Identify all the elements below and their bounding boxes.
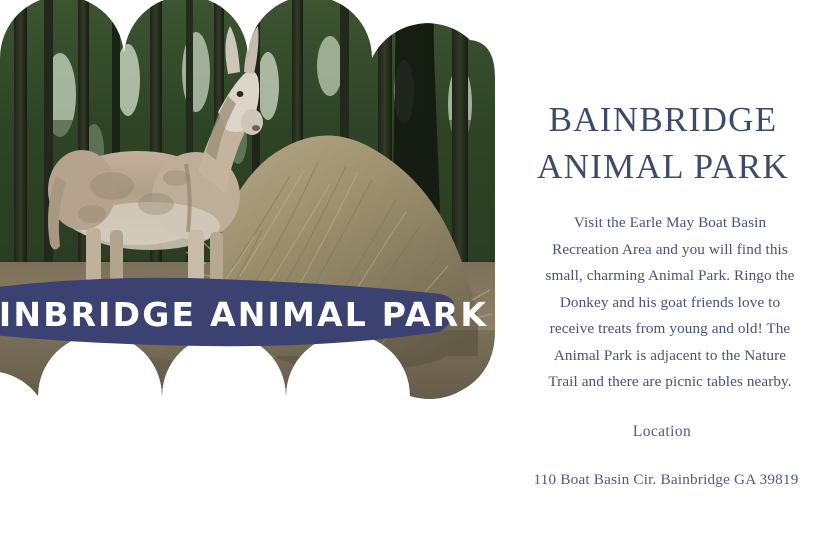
paragraph-line: Recreation Area and you will find this (520, 237, 818, 264)
description-paragraph: Visit the Earle May Boat Basin Recreatio… (520, 210, 818, 396)
paragraph-line: Animal Park is adjacent to the Nature (520, 343, 818, 370)
title-line-1: BAINBRIDGE (498, 96, 818, 143)
title-line-2: ANIMAL PARK (498, 143, 818, 190)
banner-title: BAINBRIDGE ANIMAL PARK (0, 268, 460, 360)
slide-canvas: BAINBRIDGE ANIMAL PARK BAINBRIDGE ANIMAL… (0, 0, 818, 540)
text-panel: BAINBRIDGE ANIMAL PARK Visit the Earle M… (506, 0, 818, 540)
photo-panel: BAINBRIDGE ANIMAL PARK (0, 0, 495, 410)
paragraph-line: small, charming Animal Park. Ringo the (520, 263, 818, 290)
paragraph-line: Donkey and his goat friends love to (520, 290, 818, 317)
page-title: BAINBRIDGE ANIMAL PARK (498, 96, 818, 190)
paragraph-line: Trail and there are picnic tables nearby… (520, 369, 818, 396)
paragraph-line: Visit the Earle May Boat Basin (520, 210, 818, 237)
location-heading: Location (506, 423, 818, 441)
paragraph-line: receive treats from young and old! The (520, 316, 818, 343)
location-address: 110 Boat Basin Cir. Bainbridge GA 39819 (506, 471, 818, 489)
